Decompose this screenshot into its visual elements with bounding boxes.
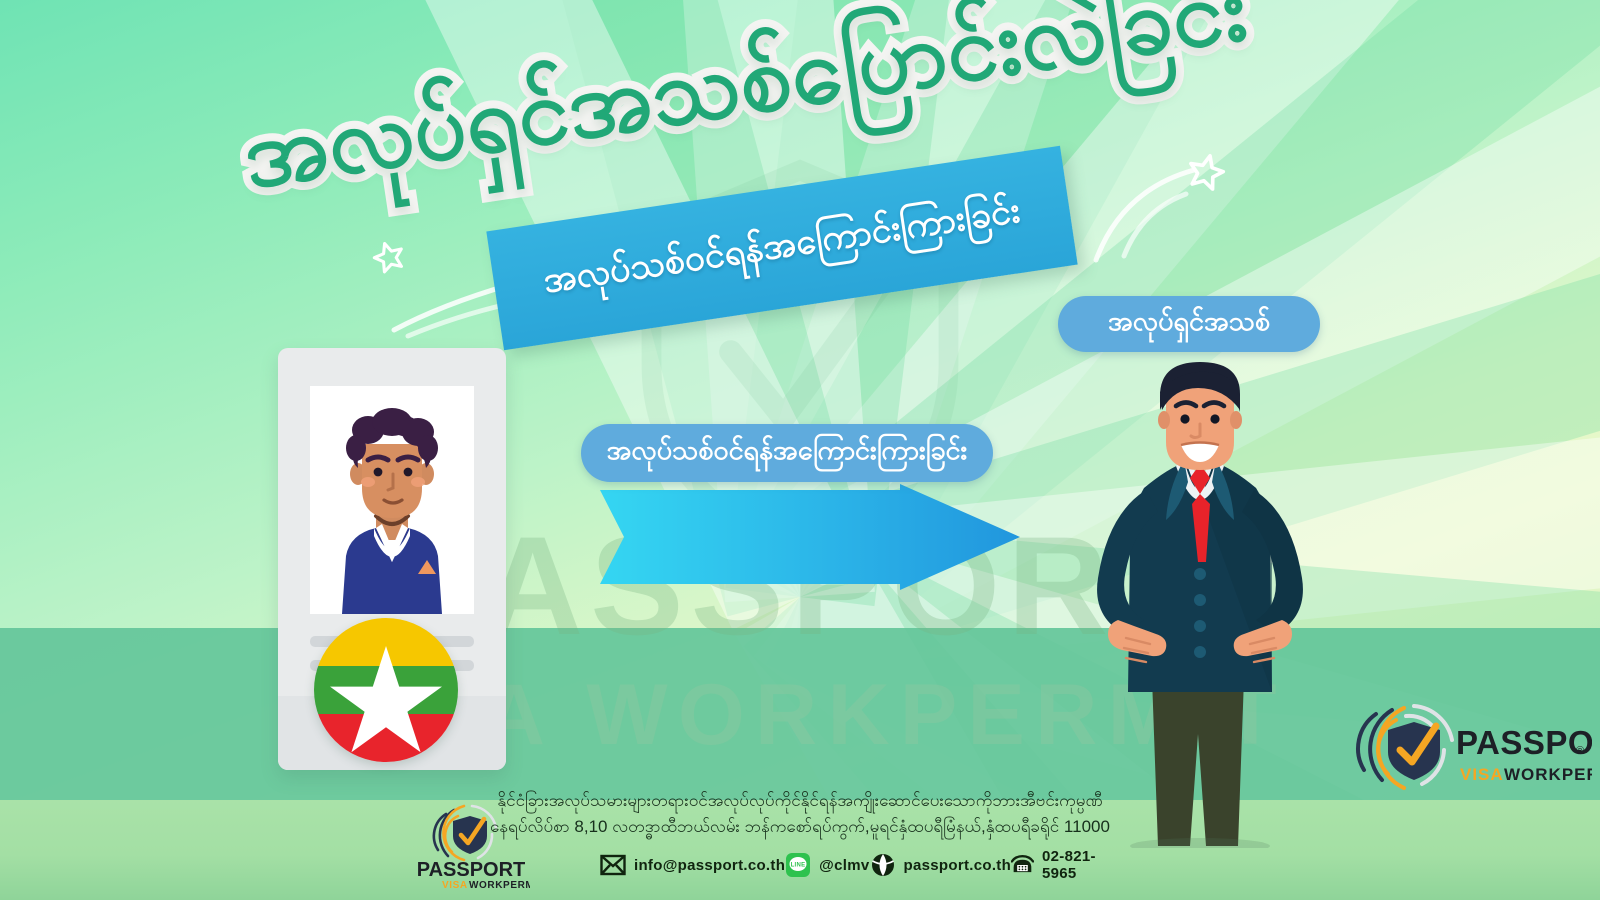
transfer-arrow [600, 484, 1020, 590]
mid-pill: အလုပ်သစ်ဝင်ရန်အကြောင်းကြားခြင်း [581, 424, 993, 482]
footer-line-1: နိုင်ငံခြားအလုပ်သမားများတရားဝင်အလုပ်လုပ်… [300, 788, 1300, 814]
footer-address: နိုင်ငံခြားအလုပ်သမားများတရားဝင်အလုပ်လုပ်… [300, 788, 1300, 841]
contact-bar: info@passport.co.th LINE @clmv passport.… [600, 848, 1120, 882]
page-title: အလုပ်ရှင်အသစ်ပြောင်းလဲခြင်း [203, 0, 1287, 215]
contact-line[interactable]: LINE @clmv [785, 853, 869, 877]
poster-canvas: PASSPORT VISA WORKPERMIT အလုပ်ရှင်အသစ်ပြ… [0, 0, 1600, 900]
new-employer-businessman [1048, 348, 1348, 848]
svg-text:LINE: LINE [791, 863, 806, 869]
worker-avatar [310, 386, 474, 614]
right-pill: အလုပ်ရှင်အသစ် [1058, 296, 1320, 352]
envelope-icon [600, 853, 626, 877]
globe-icon [870, 853, 896, 877]
contact-line-label: @clmv [819, 857, 869, 874]
businessman-illustration [1048, 348, 1348, 848]
logo-brand-text: PASSPORT [1456, 724, 1592, 761]
passport-logo-icon: PASSPORT ® VISA WORKPERMIT [1352, 692, 1592, 802]
contact-phone[interactable]: 02-821-5965 [1011, 848, 1120, 882]
id-photo [310, 386, 474, 614]
contact-email-label: info@passport.co.th [634, 857, 785, 874]
logo-tagline-visa: VISA [1460, 765, 1504, 784]
contact-email[interactable]: info@passport.co.th [600, 853, 785, 877]
logo-tagline-workpermit: WORKPERMIT [1504, 765, 1592, 784]
mid-pill-label: အလုပ်သစ်ဝင်ရန်အကြောင်းကြားခြင်း [607, 433, 968, 473]
line-app-icon: LINE [785, 853, 811, 877]
passport-logo: PASSPORT ® VISA WORKPERMIT [1352, 692, 1592, 802]
logo-tagline-visa: VISA [442, 880, 468, 888]
myanmar-flag-badge [314, 618, 458, 762]
logo-tagline-workpermit: WORKPERMIT [469, 880, 530, 888]
telephone-icon [1011, 853, 1034, 877]
contact-phone-label: 02-821-5965 [1042, 848, 1120, 882]
arrow-right-icon [600, 484, 1020, 590]
contact-website[interactable]: passport.co.th [870, 853, 1012, 877]
contact-website-label: passport.co.th [904, 857, 1012, 874]
logo-brand-text: PASSPORT [417, 859, 526, 881]
logo-registered-mark: ® [1576, 745, 1584, 757]
myanmar-flag-icon [314, 618, 458, 762]
right-pill-label: အလုပ်ရှင်အသစ် [1108, 304, 1270, 344]
footer-line-2: နေရပ်လိပ်စာ 8,10 လတဒ္ဓာထီဘယ်လမ်း ဘန်ကစော… [300, 814, 1300, 840]
